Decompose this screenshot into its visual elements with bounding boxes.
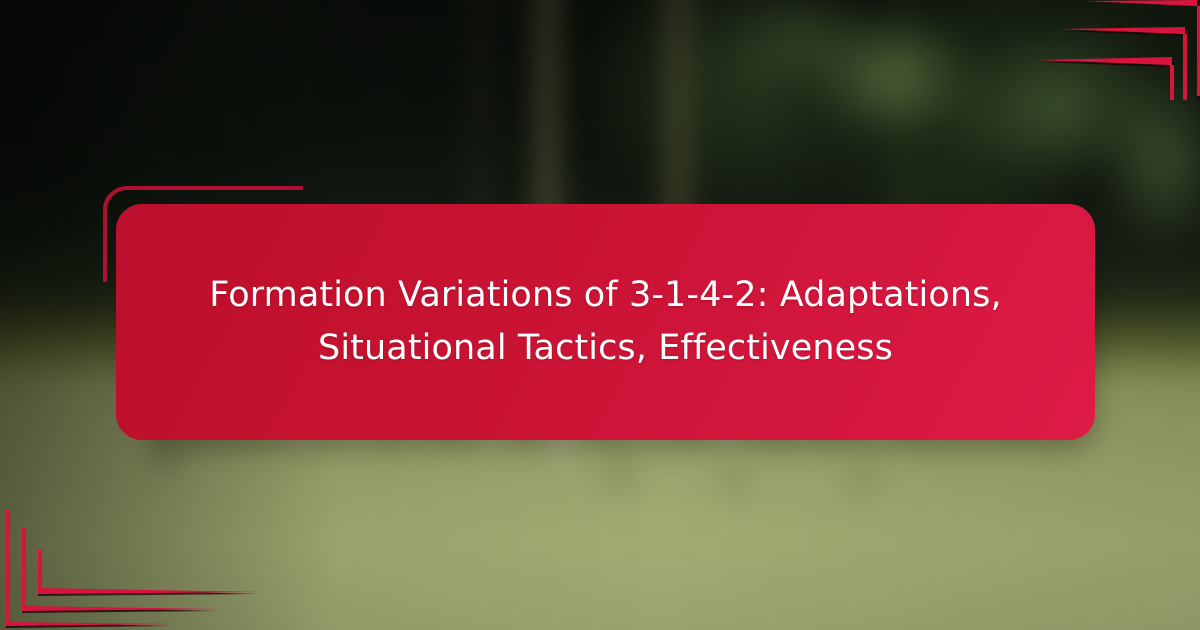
- page-title: Formation Variations of 3-1-4-2: Adaptat…: [151, 269, 1059, 375]
- page-title-line-2: Situational Tactics, Effectiveness: [318, 328, 893, 368]
- card-plate-body: Formation Variations of 3-1-4-2: Adaptat…: [116, 204, 1095, 440]
- social-share-banner: Formation Variations of 3-1-4-2: Adaptat…: [0, 0, 1200, 630]
- page-title-line-1: Formation Variations of 3-1-4-2: Adaptat…: [209, 275, 1001, 315]
- title-card: Formation Variations of 3-1-4-2: Adaptat…: [103, 186, 1103, 448]
